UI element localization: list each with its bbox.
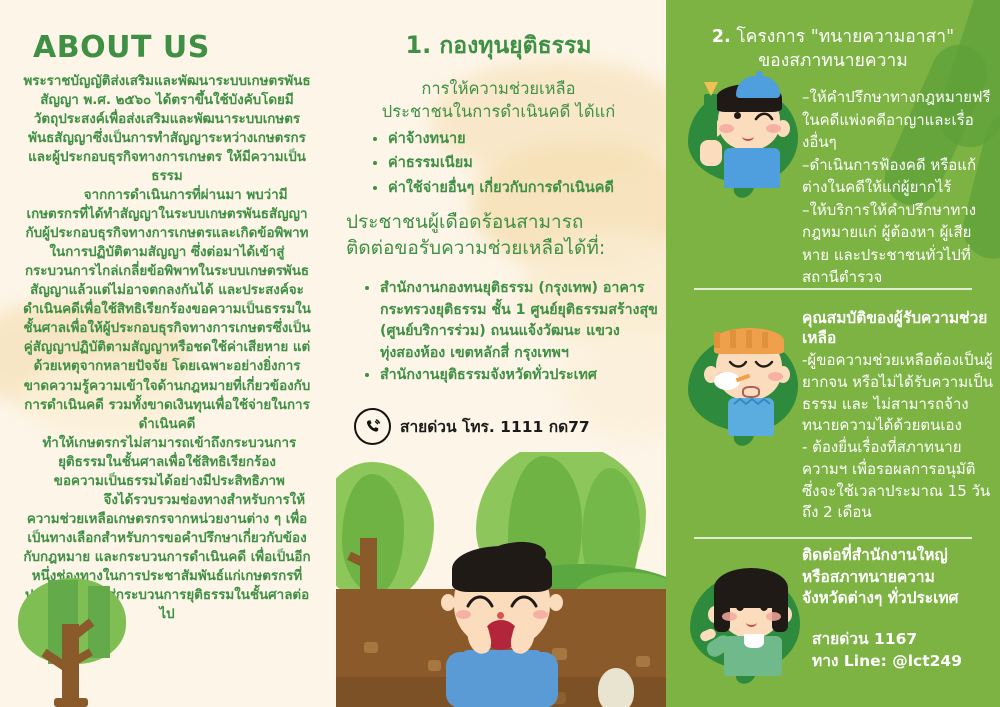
fund-number: 1.	[405, 31, 431, 59]
qualification-heading: คุณสมบัติของผู้รับความช่วยเหลือ	[802, 308, 994, 348]
lawyer-bullets: –ให้คำปรึกษาทางกฎหมายฟรีในคดีแพ่งคดีอาญา…	[802, 86, 992, 289]
contact-line: ทาง Line: @lct249	[812, 650, 1000, 672]
lawyer-number: 2.	[712, 27, 731, 47]
contact-hotline: สายด่วน 1167	[812, 628, 1000, 650]
fund-subtitle: การให้ความช่วยเหลือ ประชาชนในการดำเนินคด…	[336, 78, 661, 124]
fund-items-list: ค่าจ้างทนาย ค่าธรรมเนียม ค่าใช้จ่ายอื่นๆ…	[366, 128, 678, 201]
phone-ring-icon	[354, 408, 391, 445]
section-divider	[694, 288, 972, 290]
woman-pointing-icon	[686, 548, 804, 676]
injured-man-icon	[684, 310, 802, 438]
office-contact-heading: ติดต่อที่สำนักงานใหญ่ หรือสภาทนายความ จั…	[802, 545, 994, 610]
list-item: สำนักงานกองทนยุติธรรม (กรุงเทพ) อาคารกระ…	[380, 278, 680, 364]
contact-details: สายด่วน 1167 ทาง Line: @lct249	[812, 628, 1000, 673]
fund-contacts-list: สำนักงานกองทนยุติธรรม (กรุงเทพ) อาคารกระ…	[358, 278, 680, 388]
shouting-boy-icon	[336, 452, 666, 707]
fund-title: 1. กองทุนยุติธรรม	[336, 28, 661, 64]
fund-contact-intro: ประชาชนผู้เดือดร้อนสามารถ ติดต่อขอรับควา…	[346, 210, 656, 261]
list-item: สำนักงานยุติธรรมจังหวัดทั่วประเทศ	[380, 365, 680, 387]
infographic-page: ABOUT US พระราชบัญญัติส่งเสริมและพัฒนาระ…	[0, 0, 1000, 707]
about-body-text: พระราชบัญญัติส่งเสริมและพัฒนาระบบเกษตรพั…	[22, 72, 312, 624]
hotline-text: สายด่วน โทร. 1111 กด77	[400, 414, 590, 439]
boy-with-pencil-icon	[684, 62, 802, 190]
lawyer-column: 2. โครงการ "ทนายความอาสา" ของสภาทนายความ	[666, 0, 1000, 707]
list-item: ค่าธรรมเนียม	[388, 152, 678, 174]
about-column: ABOUT US พระราชบัญญัติส่งเสริมและพัฒนาระ…	[0, 0, 330, 707]
page-title: ABOUT US	[33, 30, 210, 65]
hotline-row[interactable]: สายด่วน โทร. 1111 กด77	[354, 408, 590, 445]
tree-icon	[18, 578, 128, 706]
section-divider	[694, 537, 972, 539]
fund-title-text: กองทุนยุติธรรม	[439, 33, 591, 59]
list-item: ค่าจ้างทนาย	[388, 128, 678, 150]
list-item: ค่าใช้จ่ายอื่นๆ เกี่ยวกับการดำเนินคดี	[388, 177, 678, 199]
qualification-body: -ผู้ขอความช่วยเหลือต้องเป็นผู้ยากจน หรือ…	[802, 350, 994, 524]
fund-column: 1. กองทุนยุติธรรม การให้ความช่วยเหลือ ปร…	[336, 0, 661, 707]
